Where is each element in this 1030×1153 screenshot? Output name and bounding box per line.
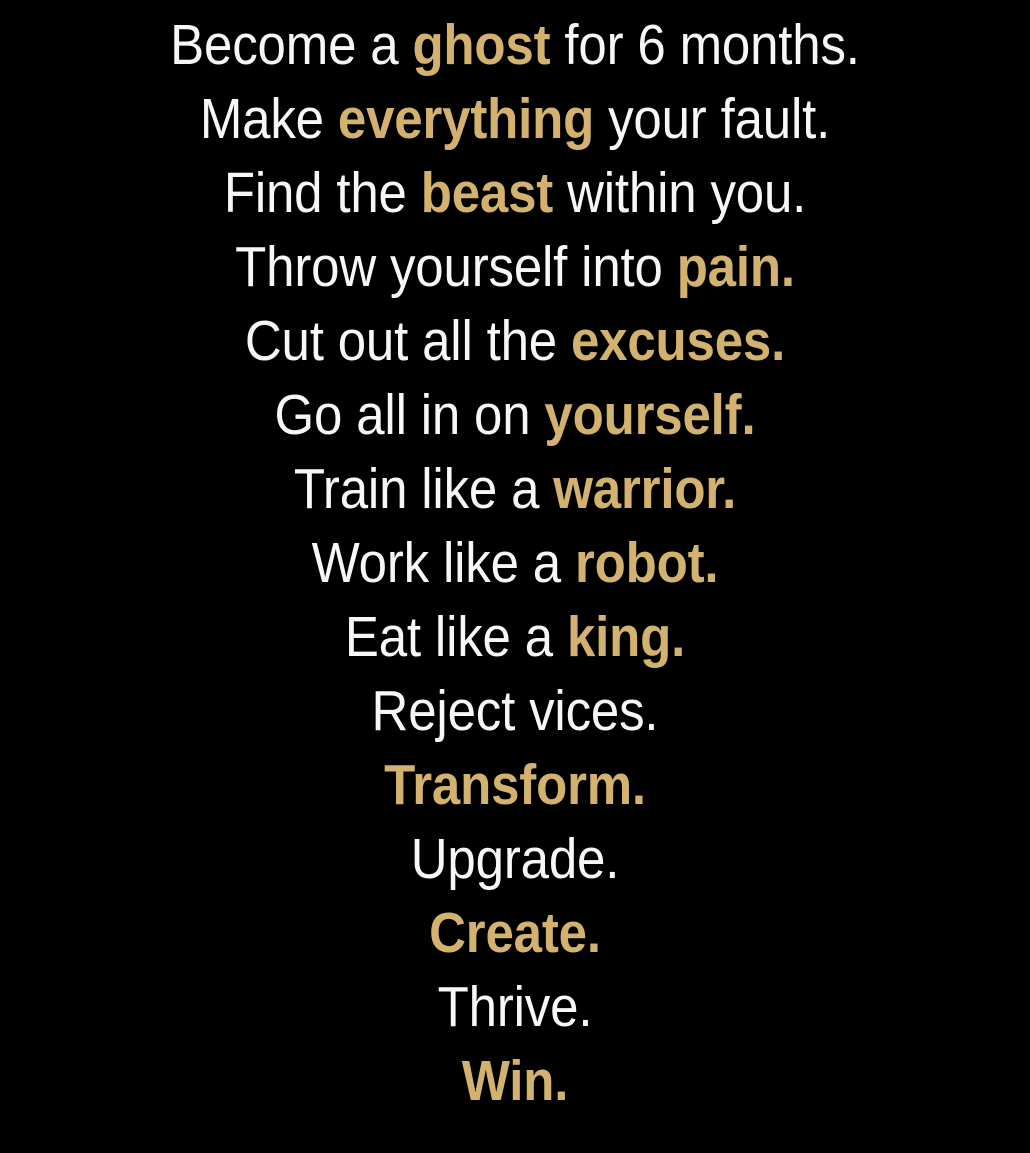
quote-text-segment: Train like a [294,457,553,521]
accent-word: beast [421,161,553,225]
quote-line: Upgrade. [54,822,976,896]
quote-text-segment: Work like a [312,531,575,595]
quote-line: Become a ghost for 6 months. [54,8,976,82]
quote-line: Find the beast within you. [54,156,976,230]
quote-line: Eat like a king. [54,600,976,674]
quote-text-segment: Cut out all the [245,309,571,373]
quote-line: Reject vices. [54,674,976,748]
accent-word: king. [567,605,685,669]
quote-line: Win. [54,1044,976,1118]
accent-word: Win. [462,1049,569,1113]
quote-text-segment: Thrive. [438,975,593,1039]
accent-word: Create. [429,901,601,965]
quote-line: Create. [54,896,976,970]
quote-line: Go all in on yourself. [54,378,976,452]
quote-text-segment: Throw yourself into [235,235,677,299]
quote-line: Throw yourself into pain. [54,230,976,304]
quote-text-segment: your fault. [594,87,830,151]
accent-word: yourself. [544,383,755,447]
quote-line: Transform. [54,748,976,822]
quote-text-segment: Upgrade. [411,827,619,891]
quote-line: Thrive. [54,970,976,1044]
quote-line: Make everything your fault. [54,82,976,156]
quote-text-segment: Find the [224,161,421,225]
accent-word: pain. [677,235,795,299]
quote-line: Cut out all the excuses. [54,304,976,378]
accent-word: warrior. [553,457,736,521]
accent-word: ghost [412,13,550,77]
quote-text-segment: Make [200,87,338,151]
quote-text-segment: Eat like a [345,605,567,669]
quote-text-block: Become a ghost for 6 months.Make everyth… [0,8,1030,1118]
quote-poster: Become a ghost for 6 months.Make everyth… [0,0,1030,1153]
accent-word: Transform. [384,753,646,817]
quote-line: Work like a robot. [54,526,976,600]
accent-word: excuses. [571,309,785,373]
quote-text-segment: for 6 months. [550,13,859,77]
quote-text-segment: within you. [553,161,806,225]
quote-text-segment: Reject vices. [372,679,659,743]
accent-word: everything [338,87,594,151]
quote-text-segment: Become a [170,13,412,77]
quote-line: Train like a warrior. [54,452,976,526]
quote-text-segment: Go all in on [275,383,545,447]
accent-word: robot. [575,531,718,595]
